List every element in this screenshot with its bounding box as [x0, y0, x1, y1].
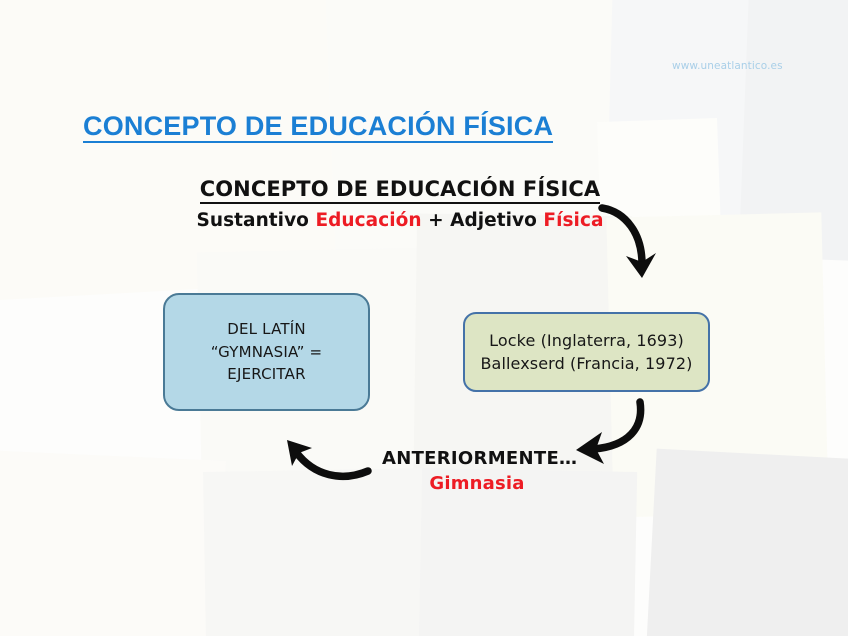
background-panels — [0, 0, 848, 636]
caption-anteriormente: ANTERIORMENTE… — [382, 448, 572, 469]
watermark-url: www.uneatlantico.es — [672, 60, 783, 72]
background-panel — [0, 0, 419, 303]
box-latin-line2: “GYMNASIA” = — [211, 341, 323, 364]
background-panel — [644, 449, 848, 636]
heading-sub-word-adjetivo: + Adjetivo — [422, 210, 544, 231]
page-title: CONCEPTO DE EDUCACIÓN FÍSICA — [83, 112, 553, 143]
heading-sub-word-sustantivo: Sustantivo — [196, 210, 315, 231]
slide-canvas: www.uneatlantico.es CONCEPTO DE EDUCACIÓ… — [0, 0, 848, 636]
curved-arrow-down-left-icon — [566, 396, 656, 466]
box-authors-line2: Ballexserd (Francia, 1972) — [480, 352, 692, 375]
heading-block: CONCEPTO DE EDUCACIÓN FÍSICA Sustantivo … — [0, 177, 800, 231]
box-latin-origin: DEL LATÍN “GYMNASIA” = EJERCITAR — [163, 293, 370, 411]
caption-block: ANTERIORMENTE… Gimnasia — [382, 448, 572, 494]
curved-arrow-up-left-icon — [276, 434, 376, 489]
caption-gimnasia: Gimnasia — [382, 473, 572, 494]
box-latin-text: DEL LATÍN “GYMNASIA” = EJERCITAR — [211, 318, 323, 386]
box-latin-line3: EJERCITAR — [211, 363, 323, 386]
box-authors: Locke (Inglaterra, 1693) Ballexserd (Fra… — [463, 312, 710, 392]
background-panel — [322, 0, 667, 316]
box-latin-line1: DEL LATÍN — [211, 318, 323, 341]
box-authors-text: Locke (Inglaterra, 1693) Ballexserd (Fra… — [480, 329, 692, 375]
heading-sub-word-educacion: Educación — [315, 210, 421, 231]
heading-main-text: CONCEPTO DE EDUCACIÓN FÍSICA — [200, 177, 601, 204]
heading-sub-word-fisica: Física — [543, 210, 603, 231]
box-authors-line1: Locke (Inglaterra, 1693) — [480, 329, 692, 352]
background-panel — [0, 449, 226, 636]
heading-sub-text: Sustantivo Educación + Adjetivo Física — [0, 210, 800, 231]
